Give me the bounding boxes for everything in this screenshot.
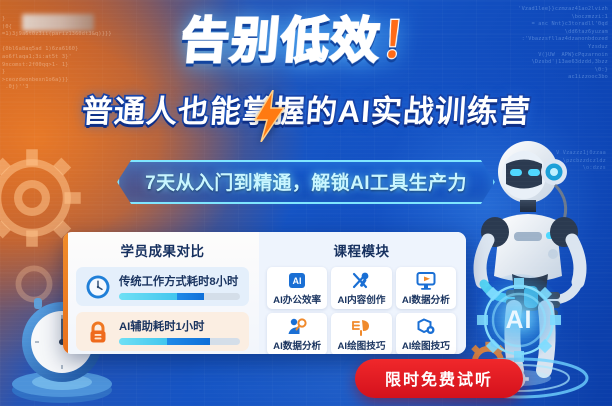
progress-segment-cyan	[119, 293, 177, 300]
module-label: AI数据分析	[273, 338, 321, 352]
module-ai-data-2[interactable]: AI数据分析	[267, 313, 327, 354]
hand-brush-icon	[350, 317, 372, 337]
info-panel: 学员成果对比 传统工作方式耗时8小时	[63, 232, 466, 354]
stat-body-ai: AI辅助耗时1小时	[119, 318, 240, 345]
progress-bar-ai	[119, 338, 240, 345]
modules-grid: AI AI办公效率 AI内容创作	[267, 267, 456, 354]
module-label: AI绘图技巧	[338, 338, 386, 352]
stat-row-traditional: 传统工作方式耗时8小时	[76, 267, 249, 306]
hologram-label: AI	[506, 306, 533, 335]
free-trial-button[interactable]: 限时免费试听	[355, 359, 523, 398]
headline-main: 告别低效！	[179, 18, 433, 66]
stat-label-ai: AI辅助耗时1小时	[119, 318, 240, 334]
exclamation-mark: ！	[379, 15, 434, 68]
cta-area: 限时免费试听	[266, 354, 612, 406]
promo-banner: } )0{ =1)3j9a6t0z3ii(pariz1360dt3&q)}}} …	[0, 0, 612, 406]
clock-icon	[85, 274, 111, 300]
results-card-title: 学员成果对比	[76, 240, 249, 260]
module-label: AI绘图技巧	[402, 338, 450, 352]
lightning-bolt-icon	[251, 90, 287, 142]
module-ai-draw-2[interactable]: AI绘图技巧	[396, 313, 456, 354]
module-ai-content[interactable]: AI内容创作	[331, 267, 391, 309]
modules-card: 课程模块 AI AI办公效率 AI内容创作	[259, 232, 466, 354]
stat-row-ai: AI辅助耗时1小时	[76, 312, 249, 351]
module-label: AI内容创作	[338, 292, 386, 306]
person-search-icon	[286, 317, 308, 337]
headline-sub-b: 的AI实战训练营	[304, 96, 531, 127]
modules-card-title: 课程模块	[267, 240, 456, 260]
stat-label-traditional: 传统工作方式耗时8小时	[119, 273, 240, 289]
module-ai-data-1[interactable]: AI数据分析	[396, 267, 456, 309]
gear-icon-bottom-left	[8, 258, 60, 310]
module-ai-office[interactable]: AI AI办公效率	[267, 267, 327, 309]
module-label: AI办公效率	[273, 292, 321, 306]
headline-block: 告别低效！	[0, 18, 612, 66]
headline-secondary-row: 普通人也能掌握的AI实战训练营	[0, 96, 612, 127]
microphone-pen-icon	[350, 271, 372, 291]
hex-gear-icon	[415, 317, 437, 337]
progress-segment-cyan	[119, 338, 167, 345]
module-label: AI数据分析	[402, 292, 450, 306]
stat-body-traditional: 传统工作方式耗时8小时	[119, 273, 240, 300]
subtitle-text: 7天从入门到精通，解锁AI工具生产力	[145, 173, 467, 194]
results-card: 学员成果对比 传统工作方式耗时8小时	[63, 232, 259, 354]
monitor-play-icon	[415, 271, 437, 291]
lock-icon	[85, 319, 111, 345]
module-ai-draw-1[interactable]: AI绘图技巧	[331, 313, 391, 354]
code-texture-right-lower: V Vzazzz1j0zzaa \pzcbzzdczldz \o:dzzs	[556, 150, 606, 173]
subtitle-pill: 7天从入门到精通，解锁AI工具生产力	[117, 160, 495, 204]
svg-text:AI: AI	[293, 276, 302, 286]
progress-bar-traditional	[119, 293, 240, 300]
ai-badge-icon: AI	[286, 271, 308, 291]
progress-segment-blue	[177, 293, 204, 300]
progress-segment-blue	[167, 338, 209, 345]
